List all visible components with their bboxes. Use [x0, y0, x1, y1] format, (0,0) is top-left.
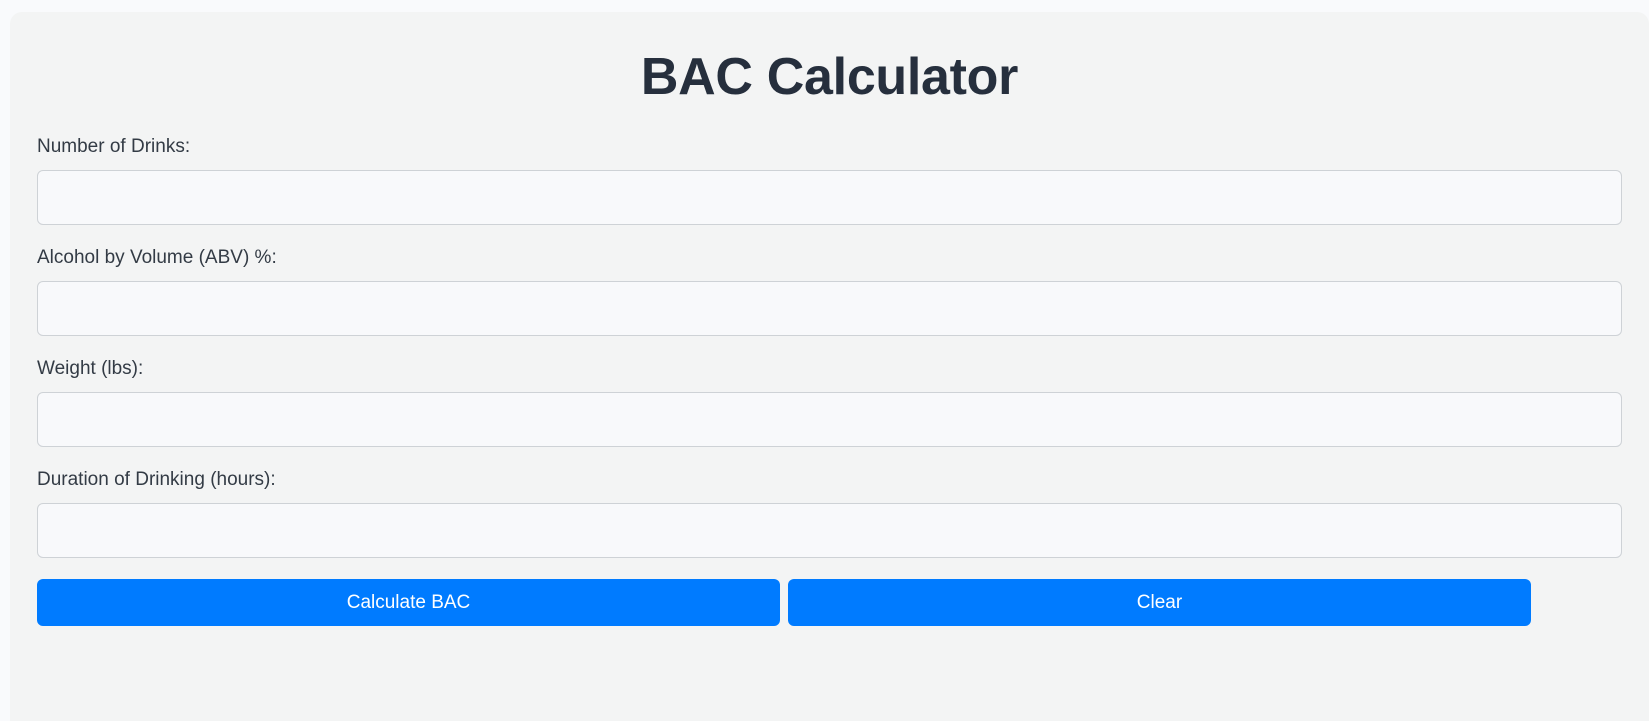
label-duration-of-drinking: Duration of Drinking (hours): — [37, 468, 1622, 492]
calculate-bac-button[interactable]: Calculate BAC — [37, 579, 780, 626]
field-group-weight: Weight (lbs): — [37, 357, 1622, 447]
input-alcohol-by-volume[interactable] — [37, 281, 1622, 336]
page-title: BAC Calculator — [10, 46, 1649, 108]
field-group-abv: Alcohol by Volume (ABV) %: — [37, 246, 1622, 336]
page-root: BAC Calculator Number of Drinks: Alcohol… — [0, 0, 1649, 721]
action-button-row: Calculate BAC Clear — [37, 579, 1531, 626]
label-number-of-drinks: Number of Drinks: — [37, 135, 1622, 159]
input-number-of-drinks[interactable] — [37, 170, 1622, 225]
input-duration-of-drinking[interactable] — [37, 503, 1622, 558]
label-alcohol-by-volume: Alcohol by Volume (ABV) %: — [37, 246, 1622, 270]
bac-form: Number of Drinks: Alcohol by Volume (ABV… — [10, 135, 1649, 626]
bac-calculator-card: BAC Calculator Number of Drinks: Alcohol… — [10, 12, 1649, 721]
field-group-duration: Duration of Drinking (hours): — [37, 468, 1622, 558]
field-group-drinks: Number of Drinks: — [37, 135, 1622, 225]
label-weight: Weight (lbs): — [37, 357, 1622, 381]
clear-button[interactable]: Clear — [788, 579, 1531, 626]
input-weight[interactable] — [37, 392, 1622, 447]
